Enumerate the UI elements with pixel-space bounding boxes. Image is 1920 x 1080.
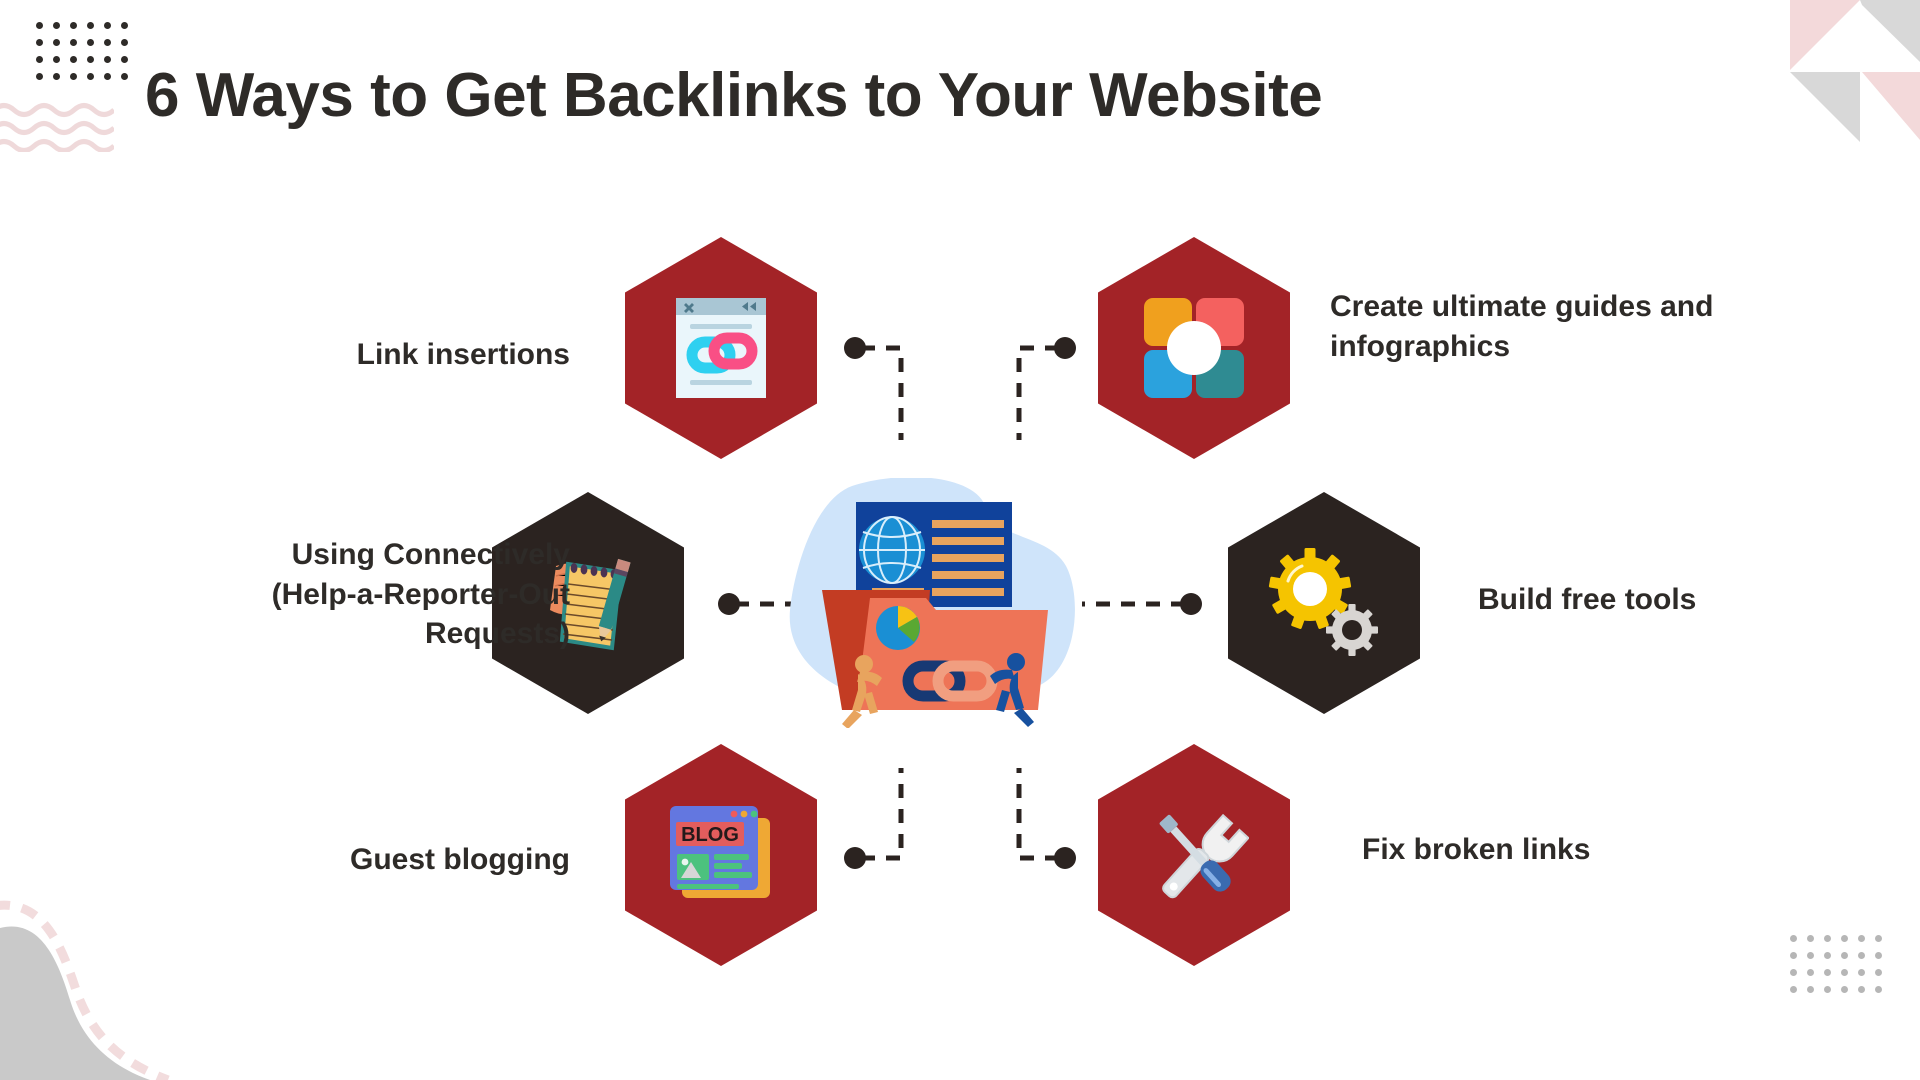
label-line: Create ultimate guides and bbox=[1330, 287, 1800, 327]
label-line: Fix broken links bbox=[1362, 830, 1782, 870]
svg-text:BLOG: BLOG bbox=[681, 824, 739, 846]
label-build-free-tools: Build free tools bbox=[1478, 580, 1858, 620]
four-color-squares-icon bbox=[1142, 296, 1246, 400]
label-line: Using Connectively bbox=[60, 535, 570, 575]
folder-globe-backlinks-illustration bbox=[780, 478, 1080, 728]
label-line: (Help-a-Reporter-Out bbox=[60, 575, 570, 615]
label-line: Link insertions bbox=[180, 335, 570, 375]
browser-chain-link-icon bbox=[670, 292, 772, 404]
label-line: Requests) bbox=[60, 614, 570, 654]
infographic-canvas: 6 Ways to Get Backlinks to Your Website bbox=[0, 0, 1920, 1080]
label-guest-blogging: Guest blogging bbox=[180, 840, 570, 880]
label-create-guides-infographics: Create ultimate guides and infographics bbox=[1330, 287, 1800, 366]
label-line: Build free tools bbox=[1478, 580, 1858, 620]
label-link-insertions: Link insertions bbox=[180, 335, 570, 375]
label-using-connectively: Using Connectively (Help-a-Reporter-Out … bbox=[60, 535, 570, 654]
blog-window-icon: BLOG bbox=[664, 800, 778, 910]
gears-icon bbox=[1266, 545, 1382, 661]
label-line: Guest blogging bbox=[180, 840, 570, 880]
label-fix-broken-links: Fix broken links bbox=[1362, 830, 1782, 870]
wrench-screwdriver-icon bbox=[1139, 800, 1249, 910]
label-line: infographics bbox=[1330, 327, 1800, 367]
